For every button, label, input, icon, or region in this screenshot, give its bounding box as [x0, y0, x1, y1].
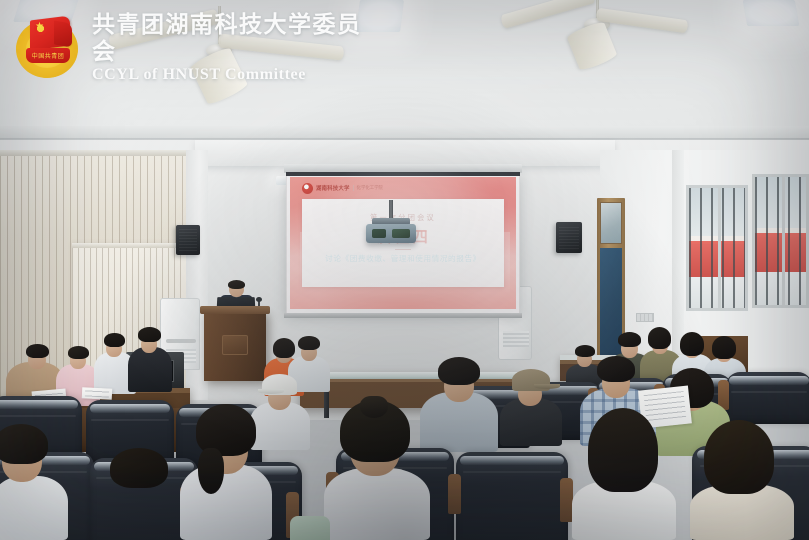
presentation-slide: 湖南科技大学 化学化工学院 第一次分团会议 议程四 讨论《团费收缴、管理和使用情… — [290, 177, 516, 309]
window-barred — [686, 185, 748, 311]
list-item — [0, 424, 70, 540]
door-window — [600, 202, 622, 244]
list-item — [570, 404, 678, 540]
projection-screen-weight-bar — [284, 313, 522, 318]
slide-divider — [395, 249, 411, 250]
slide-content-panel: 第一次分团会议 议程四 讨论《团费收缴、管理和使用情况的报告》 — [302, 199, 504, 287]
window-barred — [752, 174, 809, 308]
list-item — [320, 398, 432, 540]
paper-on-desk — [82, 387, 113, 400]
wall-speaker-icon — [556, 222, 582, 253]
seat-armrest — [448, 474, 461, 514]
soffit-beam — [195, 140, 615, 166]
ceiling-bevel — [0, 126, 809, 138]
list-item — [500, 366, 564, 446]
auditorium-seat[interactable] — [456, 452, 568, 540]
auditorium-seat[interactable] — [726, 372, 809, 424]
list-item — [290, 516, 330, 540]
university-logo-icon — [302, 183, 313, 194]
list-item — [178, 400, 274, 540]
light-panel-icon — [743, 0, 800, 26]
light-panel-icon — [356, 0, 404, 32]
slide-institution-logo: 湖南科技大学 化学化工学院 — [302, 181, 424, 195]
list-item — [688, 418, 796, 540]
slide-logo-institution: 湖南科技大学 — [316, 184, 350, 192]
wall-speaker-icon — [176, 225, 200, 255]
speaking-podium — [204, 311, 266, 381]
list-item — [128, 326, 174, 392]
list-item — [104, 448, 174, 540]
ceiling-fan-icon — [500, 0, 690, 70]
ceiling-projector-icon — [366, 224, 416, 243]
projection-screen: 湖南科技大学 化学化工学院 第一次分团会议 议程四 讨论《团费收缴、管理和使用情… — [286, 172, 520, 314]
list-item — [420, 356, 500, 452]
slide-subtitle-text: 讨论《团费收缴、管理和使用情况的报告》 — [302, 253, 504, 264]
slide-logo-department: 化学化工学院 — [353, 185, 383, 191]
wall-outlet-icon — [636, 313, 654, 322]
light-panel-icon — [13, 0, 81, 22]
ceiling-fan-icon — [110, 6, 340, 102]
curtain-rail — [0, 150, 200, 156]
photograph-canvas: 湖南科技大学 化学化工学院 第一次分团会议 议程四 讨论《团费收缴、管理和使用情… — [0, 0, 809, 540]
